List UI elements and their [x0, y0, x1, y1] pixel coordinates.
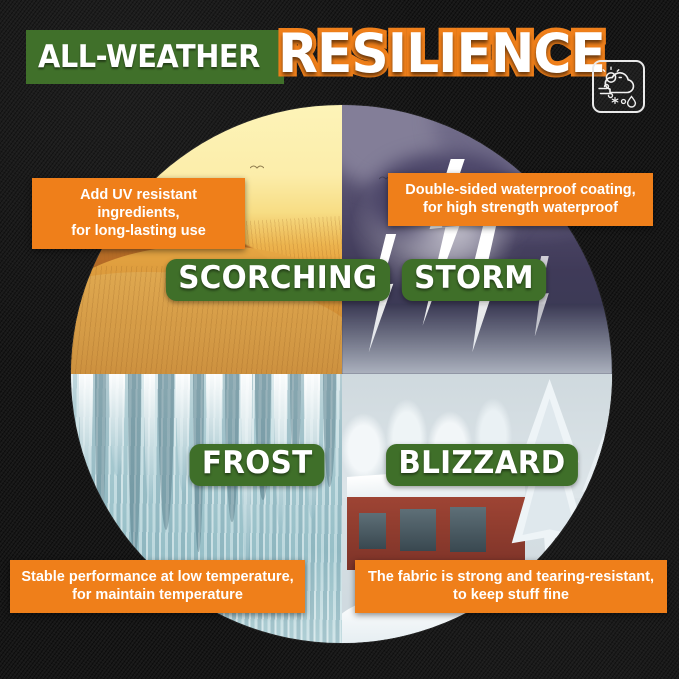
- bird-icon: [250, 164, 264, 171]
- header-green-bar: ALL-WEATHER: [26, 30, 284, 84]
- label-blizzard: BLIZZARD: [386, 444, 578, 486]
- cabin-window: [359, 513, 386, 549]
- header: ALL-WEATHER RESILIENCE: [0, 28, 679, 90]
- quadrant-storm: [342, 105, 613, 374]
- page-title: RESILIENCE: [278, 22, 605, 85]
- label-scorching: SCORCHING: [166, 259, 390, 301]
- cabin-window: [450, 507, 486, 552]
- poster-canvas: ALL-WEATHER RESILIENCE: [0, 0, 679, 679]
- label-storm: STORM: [402, 259, 546, 301]
- callout-scorching: Add UV resistant ingredients, for long-l…: [32, 178, 245, 249]
- callout-blizzard: The fabric is strong and tearing-resista…: [355, 560, 667, 613]
- storm-treeline: [342, 304, 613, 374]
- cabin-window: [400, 509, 436, 551]
- label-frost: FROST: [190, 444, 325, 486]
- callout-frost: Stable performance at low temperature, f…: [10, 560, 305, 613]
- callout-storm: Double-sided waterproof coating, for hig…: [388, 173, 653, 226]
- header-kicker: ALL-WEATHER: [38, 39, 260, 75]
